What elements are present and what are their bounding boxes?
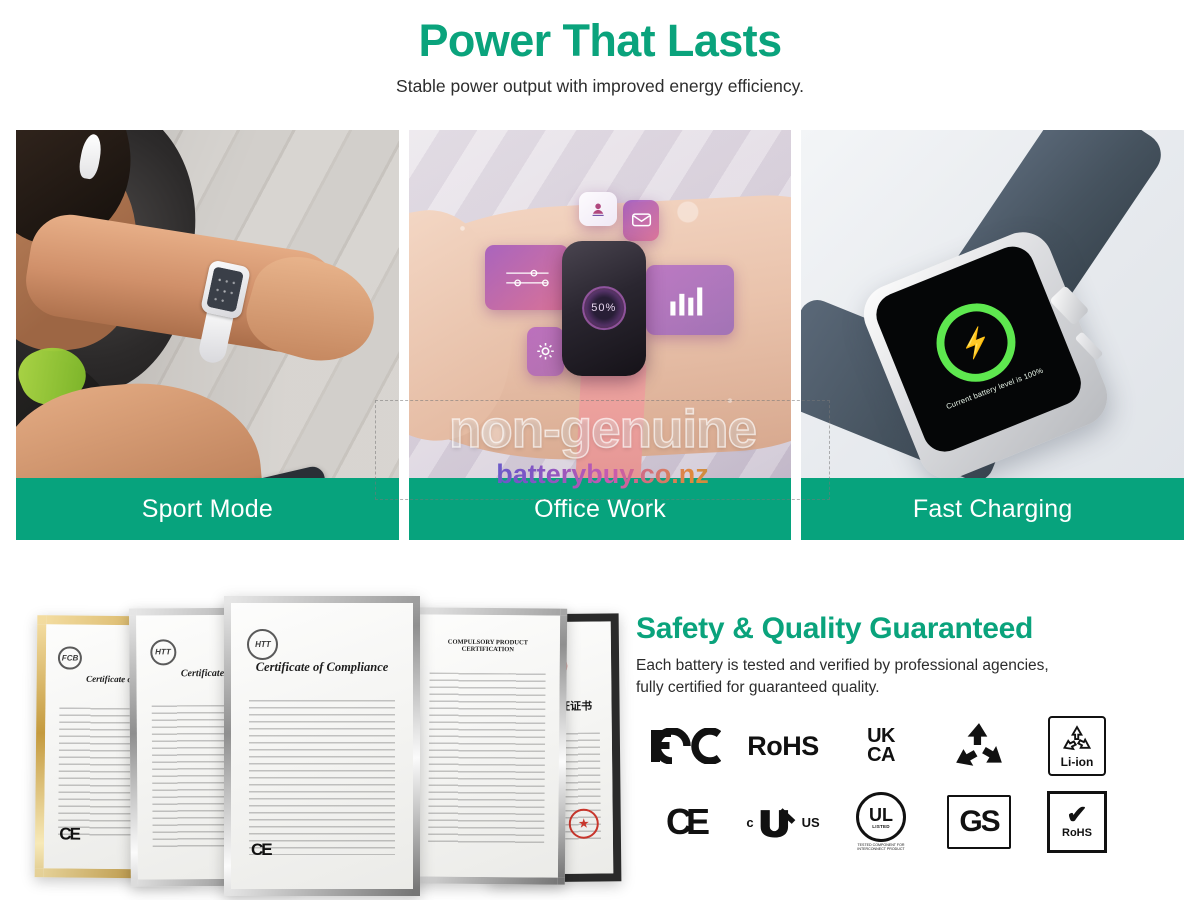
panel-caption-office-work: Office Work [409, 478, 792, 540]
gs-badge: GS [930, 786, 1028, 858]
recycle-badge [930, 710, 1028, 782]
panel-caption-sport-mode: Sport Mode [16, 478, 399, 540]
cert-3-ce-mark: CE [251, 840, 271, 860]
rohs-wordmark-icon: RoHS [747, 731, 819, 762]
ul-recognized-icon: c US [746, 806, 819, 838]
rohs-check-badge: ✔ RoHS [1028, 786, 1126, 858]
certificates-gallery: FCB Certificate of C CE HTT Certificate … [18, 594, 608, 894]
ce-badge: CE [636, 786, 734, 858]
ce-mark-icon: CE [666, 801, 704, 843]
ukca-icon: UK CA [867, 727, 895, 765]
badge-row-2: CE c US UL [636, 784, 1126, 860]
cert-3-title: Certificate of Compliance [246, 660, 399, 675]
feature-panel-sport-mode[interactable]: Sport Mode [16, 130, 399, 540]
cert-5-red-stamp: ★ [569, 808, 599, 838]
safety-desc-line-1: Each battery is tested and verified by p… [636, 655, 1181, 677]
ukca-badge: UK CA [832, 710, 930, 782]
page-title: Power That Lasts [0, 14, 1200, 67]
cert-2-logo: HTT [150, 639, 176, 665]
liion-recycle-icon: Li-ion [1048, 716, 1106, 776]
certificate-4[interactable]: COMPULSORY PRODUCT CERTIFICATION [407, 607, 567, 884]
page-subtitle: Stable power output with improved energy… [0, 76, 1200, 97]
feature-panel-office-work[interactable]: 50% Office Work [409, 130, 792, 540]
feature-panel-fast-charging[interactable]: ⚡ Current battery level is 100% Fast Cha… [801, 130, 1184, 540]
cert-3-logo: HTT [247, 629, 278, 660]
liion-label: Li-ion [1061, 755, 1094, 769]
cert-1-logo: FCB [58, 646, 82, 670]
rohs-badge: RoHS [734, 710, 832, 782]
gs-mark-icon: GS [947, 795, 1011, 849]
badge-row-1: RoHS UK CA [636, 708, 1126, 784]
feature-panels: Sport Mode [16, 130, 1184, 540]
safety-desc-line-2: fully certified for guaranteed quality. [636, 677, 1181, 699]
fcc-badge [636, 710, 734, 782]
ul-listed-subtext: TESTED COMPONENT FOR INTERCONNECT PRODUC… [849, 844, 913, 852]
certification-badges: RoHS UK CA [636, 708, 1126, 860]
page-header: Power That Lasts Stable power output wit… [0, 14, 1200, 97]
cert-4-title: COMPULSORY PRODUCT CERTIFICATION [427, 638, 548, 653]
rohs-check-icon: ✔ RoHS [1047, 791, 1107, 853]
lower-section: FCB Certificate of C CE HTT Certificate … [0, 580, 1200, 900]
ul-listed-badge: UL LISTED TESTED COMPONENT FOR INTERCONN… [832, 786, 930, 858]
liion-badge: Li-ion [1028, 710, 1126, 782]
product-feature-page: Power That Lasts Stable power output wit… [0, 0, 1200, 900]
certificate-3[interactable]: HTT Certificate of Compliance CE [224, 596, 420, 896]
lightning-bolt-icon: ⚡ [956, 324, 996, 360]
ul-listed-icon: UL LISTED [856, 792, 906, 842]
panel-caption-fast-charging: Fast Charging [801, 478, 1184, 540]
safety-title: Safety & Quality Guaranteed [636, 612, 1181, 646]
recycle-icon [952, 721, 1006, 771]
crus-badge: c US [734, 786, 832, 858]
safety-quality-block: Safety & Quality Guaranteed Each battery… [636, 612, 1181, 700]
cert-1-ce-mark: CE [59, 824, 79, 844]
